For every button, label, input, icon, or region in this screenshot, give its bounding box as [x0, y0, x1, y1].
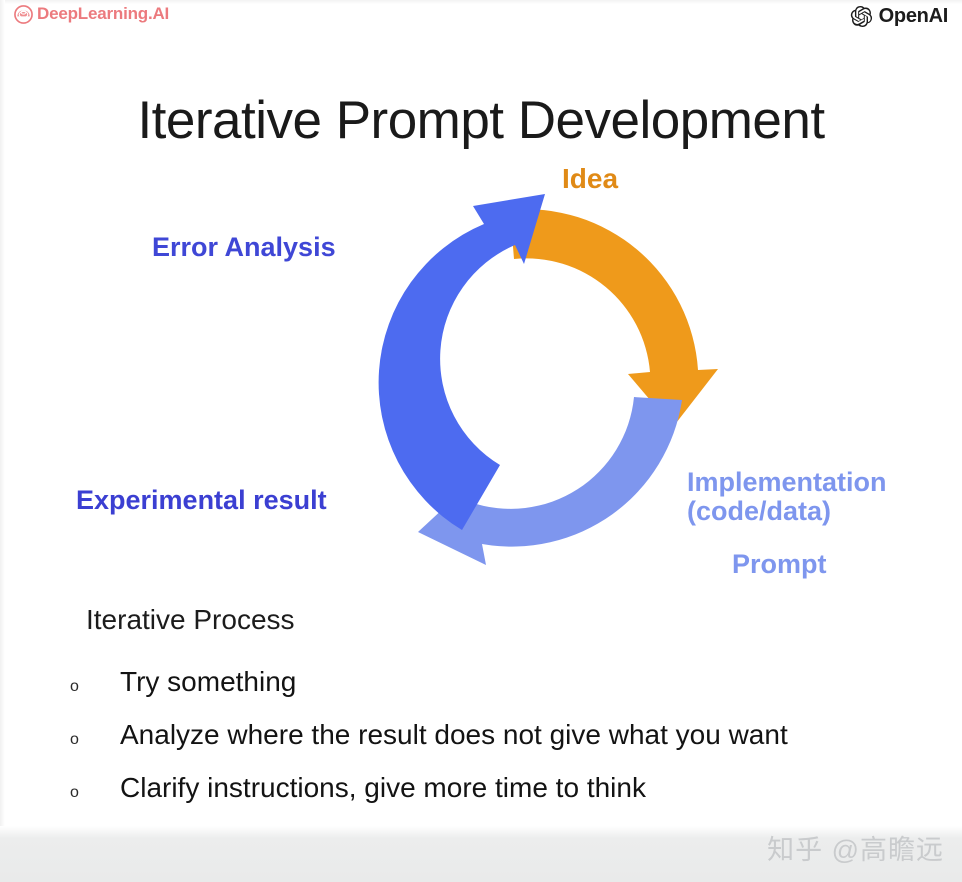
list-item: o Clarify instructions, give more time t… [70, 772, 950, 804]
list-item: o Analyze where the result does not give… [70, 719, 950, 751]
cycle-label-prompt: Prompt [732, 550, 827, 579]
list-item-label: Try something [120, 666, 296, 698]
error-analysis-arrow [379, 194, 545, 530]
cycle-label-error-analysis: Error Analysis [152, 233, 336, 262]
list-item-label: Analyze where the result does not give w… [120, 719, 788, 751]
bullet-circle-icon: o [70, 732, 120, 748]
deeplearning-ai-mark-icon [14, 5, 33, 24]
cycle-label-implementation-line2: (code/data) [687, 497, 887, 526]
bullet-circle-icon: o [70, 785, 120, 801]
section-heading: Iterative Process [86, 604, 295, 636]
deeplearning-ai-wordmark: DeepLearning.AI [37, 4, 169, 24]
zhihu-watermark: 知乎 @高瞻远 [767, 828, 944, 867]
page-title: Iterative Prompt Development [0, 90, 962, 151]
list-item-label: Clarify instructions, give more time to … [120, 772, 646, 804]
cycle-label-implementation-line1: Implementation [687, 468, 887, 497]
idea-arrow [510, 209, 718, 427]
bullet-circle-icon: o [70, 679, 120, 695]
deeplearning-ai-logo: DeepLearning.AI [14, 4, 169, 24]
slide-canvas: DeepLearning.AI OpenAI Iterative Prompt … [0, 0, 962, 882]
openai-wordmark: OpenAI [879, 5, 948, 28]
cycle-svg [340, 178, 740, 578]
list-item: o Try something [70, 666, 950, 698]
openai-mark-icon [850, 5, 873, 28]
iterative-cycle-diagram [340, 178, 740, 578]
cycle-label-idea: Idea [562, 164, 618, 194]
cycle-label-experimental-result: Experimental result [76, 486, 327, 515]
openai-logo: OpenAI [850, 5, 948, 28]
cycle-label-implementation: Implementation (code/data) [687, 468, 887, 526]
